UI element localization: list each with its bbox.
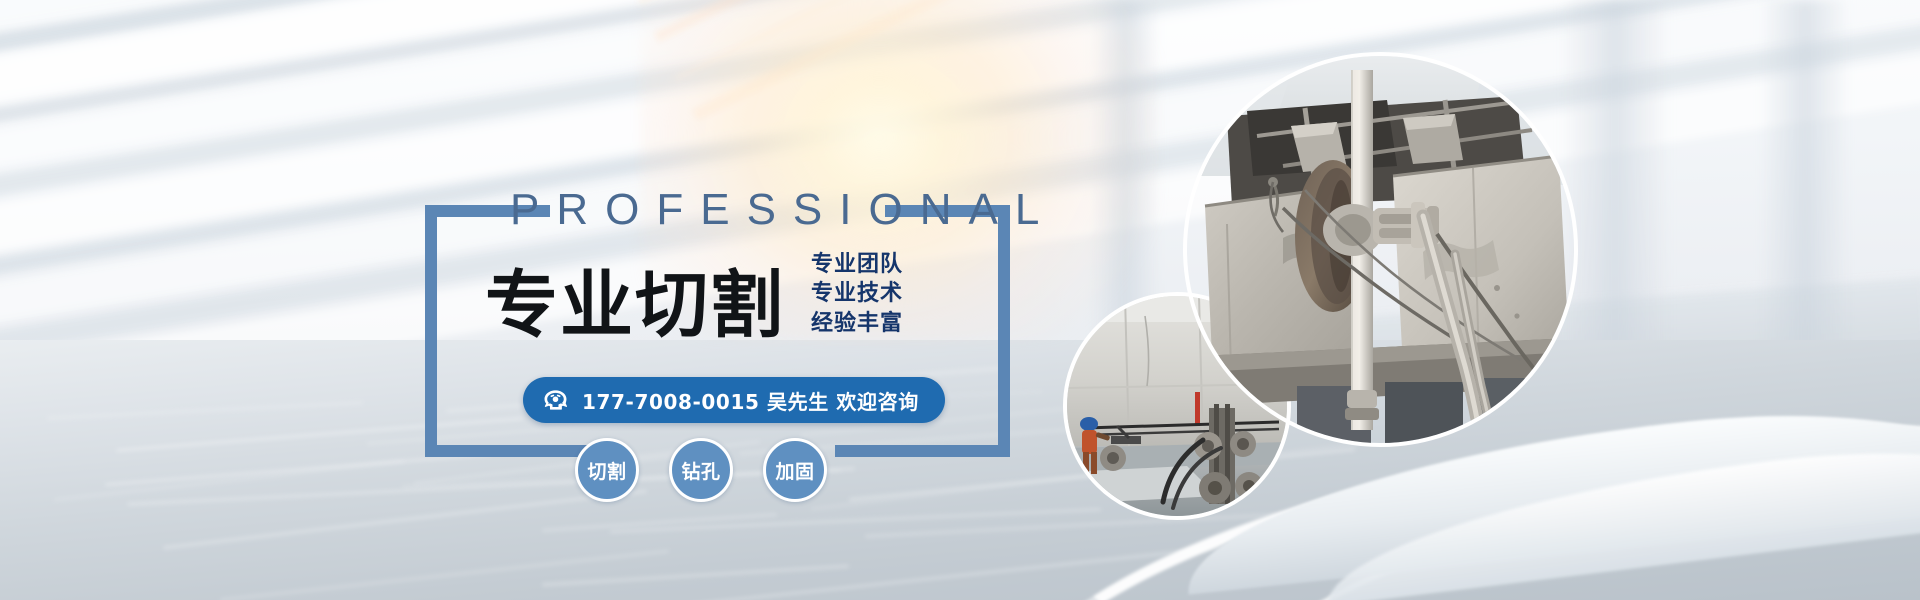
phone-contact-button[interactable]: 177-7008-0015 吴先生 欢迎咨询 bbox=[523, 377, 945, 423]
service-badge-reinforce[interactable]: 加固 bbox=[763, 438, 827, 502]
title-row: 专业切割 专业团队 专业技术 经验丰富 bbox=[485, 250, 903, 342]
service-badge-drilling[interactable]: 钻孔 bbox=[669, 438, 733, 502]
background-scene bbox=[0, 0, 1920, 600]
service-badges: 切割 钻孔 加固 bbox=[575, 438, 827, 502]
promo-banner: PROFESSIONAL 专业切割 专业团队 专业技术 经验丰富 177-700… bbox=[0, 0, 1920, 600]
selling-point-3: 经验丰富 bbox=[811, 309, 903, 338]
page-title: 专业切割 bbox=[485, 269, 785, 342]
phone-number-text: 177-7008-0015 吴先生 欢迎咨询 bbox=[582, 386, 919, 415]
service-badge-cutting[interactable]: 切割 bbox=[575, 438, 639, 502]
concrete-saw-illustration bbox=[1187, 56, 1574, 443]
english-headline: PROFESSIONAL bbox=[510, 185, 1056, 235]
selling-point-1: 专业团队 bbox=[811, 250, 903, 279]
concrete-saw-cutting-photo bbox=[1183, 52, 1578, 447]
telephone-icon bbox=[542, 387, 569, 414]
selling-point-2: 专业技术 bbox=[811, 279, 903, 308]
selling-points-list: 专业团队 专业技术 经验丰富 bbox=[811, 250, 903, 338]
